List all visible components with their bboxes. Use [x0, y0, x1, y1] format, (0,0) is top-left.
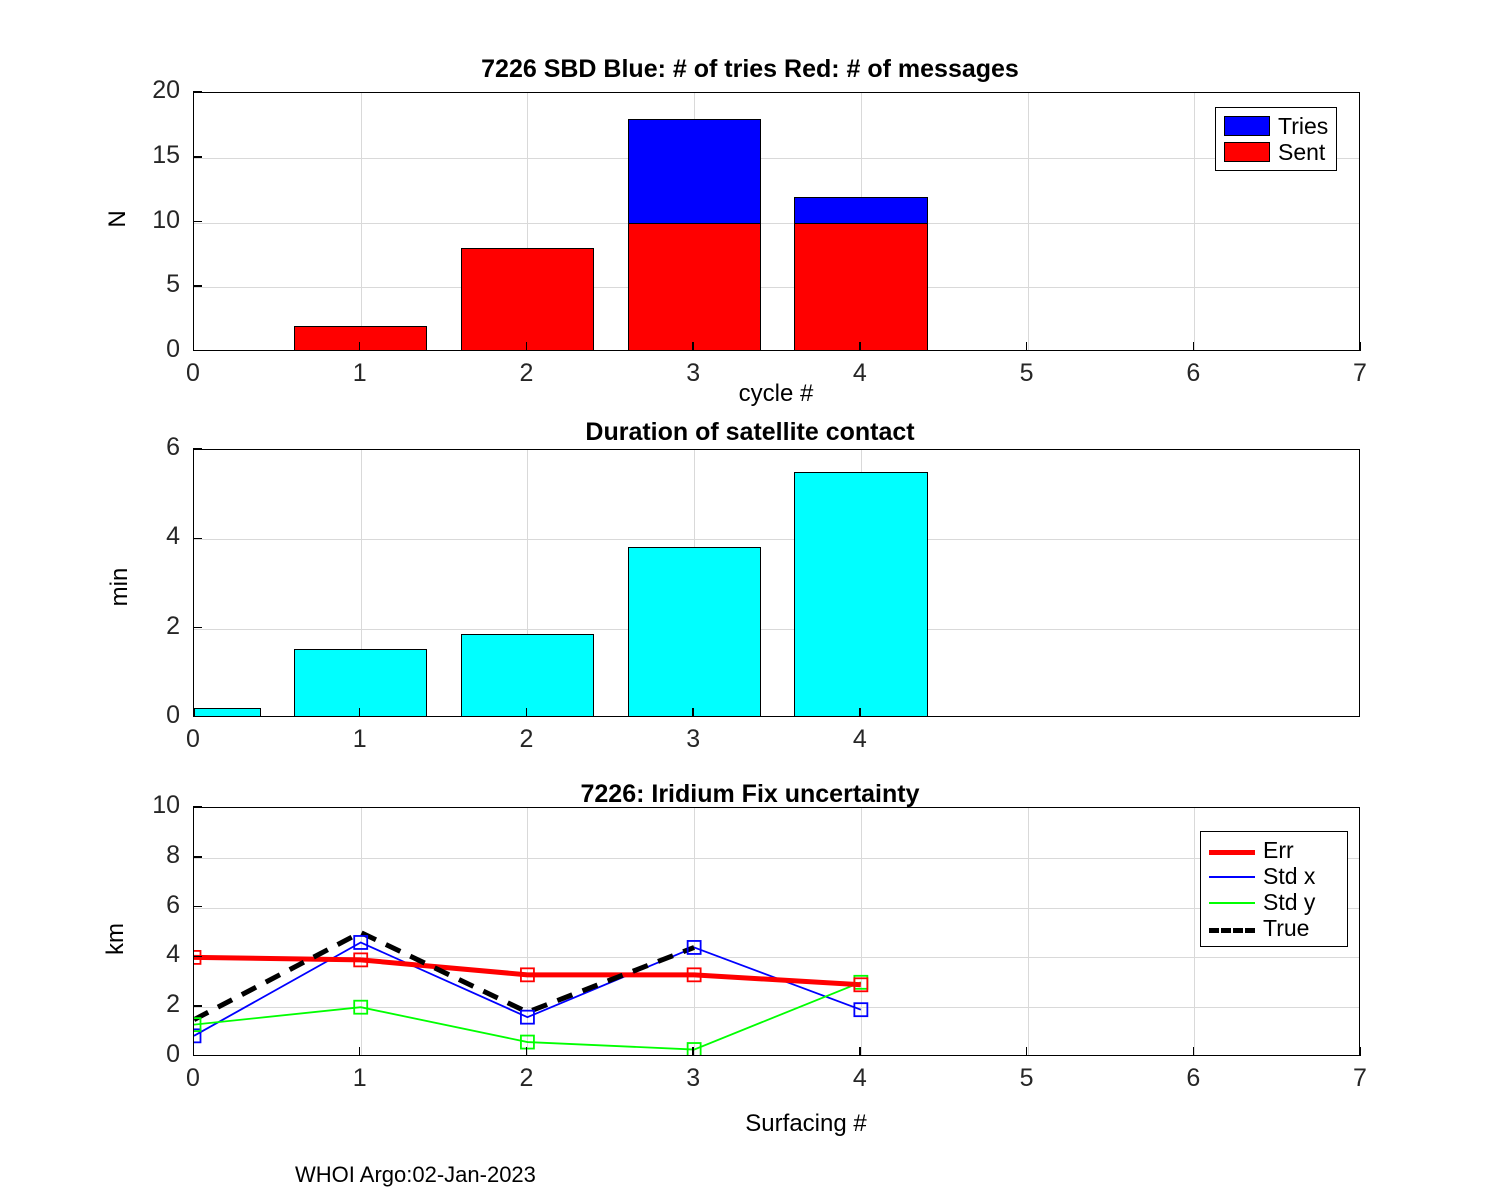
- bar-duration: [294, 649, 427, 717]
- y-tick-mark: [193, 906, 202, 908]
- bar-sent: [294, 326, 427, 351]
- legend-item-std-y[interactable]: Std y: [1209, 889, 1339, 915]
- bar-duration: [794, 472, 927, 717]
- legend-swatch-sent: [1224, 142, 1270, 162]
- y-tick-mark: [193, 1005, 202, 1007]
- x-tick-label: 0: [153, 725, 233, 754]
- gridline-vertical: [361, 93, 362, 350]
- gridline-horizontal: [194, 223, 1359, 224]
- legend-label-err: Err: [1263, 839, 1294, 862]
- legend-swatch-std-x: [1209, 866, 1255, 886]
- bar-duration: [461, 634, 594, 717]
- y-tick-label: 10: [98, 791, 180, 820]
- y-tick-mark: [193, 448, 202, 450]
- y-tick-label: 6: [98, 433, 180, 462]
- series-line-std-y: [194, 982, 861, 1049]
- y-tick-label: 4: [98, 940, 180, 969]
- x-tick-label: 5: [987, 359, 1067, 388]
- y-tick-label: 2: [98, 990, 180, 1019]
- legend-item-std-x[interactable]: Std x: [1209, 863, 1339, 889]
- x-tick-mark: [859, 708, 861, 717]
- x-tick-label: 6: [1153, 1064, 1233, 1093]
- legend-swatch-std-y: [1209, 892, 1255, 912]
- gridline-horizontal: [194, 629, 1359, 630]
- gridline-vertical: [1194, 93, 1195, 350]
- bar-sent: [794, 223, 927, 352]
- x-tick-mark: [1193, 342, 1195, 351]
- legend-swatch-err: [1209, 840, 1255, 860]
- line-series-canvas: [194, 808, 1360, 1056]
- x-tick-label: 3: [653, 725, 733, 754]
- panel3-xlabel: Surfacing #: [676, 1110, 936, 1138]
- x-tick-mark: [526, 708, 528, 717]
- y-tick-mark: [193, 856, 202, 858]
- bar-sent: [628, 223, 761, 352]
- x-tick-label: 3: [653, 359, 733, 388]
- x-tick-label: 1: [320, 359, 400, 388]
- x-tick-label: 5: [987, 1064, 1067, 1093]
- legend-swatch-tries: [1224, 116, 1270, 136]
- panel1-plot-area: [193, 92, 1360, 351]
- x-tick-label: 4: [820, 725, 900, 754]
- panel2-plot-area: [193, 449, 1360, 717]
- x-tick-label: 0: [153, 359, 233, 388]
- x-tick-label: 7: [1320, 359, 1400, 388]
- y-tick-mark: [193, 538, 202, 540]
- legend-label-std-y: Std y: [1263, 891, 1315, 914]
- y-tick-mark: [193, 156, 202, 158]
- legend-label-std-x: Std x: [1263, 865, 1315, 888]
- gridline-horizontal: [194, 158, 1359, 159]
- y-tick-mark: [193, 221, 202, 223]
- x-tick-label: 7: [1320, 1064, 1400, 1093]
- x-tick-mark: [692, 1047, 694, 1056]
- y-tick-label: 10: [98, 206, 180, 235]
- x-tick-label: 0: [153, 1064, 233, 1093]
- x-tick-label: 2: [486, 1064, 566, 1093]
- y-tick-label: 6: [98, 891, 180, 920]
- x-tick-mark: [692, 708, 694, 717]
- y-tick-label: 4: [98, 522, 180, 551]
- y-tick-mark: [193, 91, 202, 93]
- x-tick-mark: [1359, 342, 1361, 351]
- x-tick-mark: [359, 1047, 361, 1056]
- panel1-legend[interactable]: TriesSent: [1215, 107, 1337, 171]
- x-tick-label: 4: [820, 1064, 900, 1093]
- legend-item-tries[interactable]: Tries: [1224, 113, 1328, 139]
- y-tick-label: 5: [98, 270, 180, 299]
- legend-label-sent: Sent: [1278, 141, 1325, 164]
- x-tick-label: 6: [1153, 359, 1233, 388]
- bar-duration: [628, 547, 761, 717]
- x-tick-label: 3: [653, 1064, 733, 1093]
- y-tick-label: 2: [98, 612, 180, 641]
- gridline-horizontal: [194, 539, 1359, 540]
- gridline-horizontal: [194, 287, 1359, 288]
- x-tick-mark: [1026, 342, 1028, 351]
- x-tick-mark: [859, 342, 861, 351]
- panel1-title: 7226 SBD Blue: # of tries Red: # of mess…: [0, 55, 1500, 84]
- legend-item-sent[interactable]: Sent: [1224, 139, 1328, 165]
- panel-fix-uncertainty: 7226: Iridium Fix uncertainty km Surfaci…: [0, 780, 1500, 1140]
- x-tick-mark: [359, 708, 361, 717]
- panel-contact-duration: Duration of satellite contact min 024601…: [0, 418, 1500, 738]
- bar-duration: [194, 708, 261, 717]
- x-tick-label: 4: [820, 359, 900, 388]
- x-tick-mark: [1026, 1047, 1028, 1056]
- y-tick-label: 8: [98, 841, 180, 870]
- y-tick-mark: [193, 285, 202, 287]
- x-tick-label: 1: [320, 725, 400, 754]
- panel3-title: 7226: Iridium Fix uncertainty: [0, 780, 1500, 809]
- footer-credit: WHOI Argo:02-Jan-2023: [295, 1162, 536, 1188]
- x-tick-mark: [526, 342, 528, 351]
- series-line-true: [194, 933, 694, 1020]
- panel-sbd-counts: 7226 SBD Blue: # of tries Red: # of mess…: [0, 55, 1500, 405]
- x-tick-mark: [526, 1047, 528, 1056]
- bar-sent: [461, 248, 594, 351]
- x-tick-label: 2: [486, 359, 566, 388]
- x-tick-label: 1: [320, 1064, 400, 1093]
- panel2-title: Duration of satellite contact: [0, 418, 1500, 447]
- x-tick-mark: [1193, 1047, 1195, 1056]
- panel3-legend[interactable]: ErrStd xStd yTrue: [1200, 831, 1348, 947]
- panel3-plot-area: [193, 807, 1360, 1056]
- x-tick-mark: [859, 1047, 861, 1056]
- y-tick-mark: [193, 956, 202, 958]
- y-tick-mark: [193, 806, 202, 808]
- legend-item-true[interactable]: True: [1209, 915, 1339, 941]
- x-tick-mark: [359, 342, 361, 351]
- y-tick-label: 15: [98, 141, 180, 170]
- x-tick-mark: [1359, 1047, 1361, 1056]
- legend-swatch-true: [1209, 918, 1255, 938]
- y-tick-mark: [193, 627, 202, 629]
- x-tick-label: 2: [486, 725, 566, 754]
- gridline-vertical: [1028, 93, 1029, 350]
- figure-canvas: 7226 SBD Blue: # of tries Red: # of mess…: [0, 0, 1500, 1200]
- y-tick-label: 20: [98, 76, 180, 105]
- x-tick-mark: [692, 342, 694, 351]
- legend-item-err[interactable]: Err: [1209, 837, 1339, 863]
- legend-label-tries: Tries: [1278, 115, 1328, 138]
- legend-label-true: True: [1263, 917, 1309, 940]
